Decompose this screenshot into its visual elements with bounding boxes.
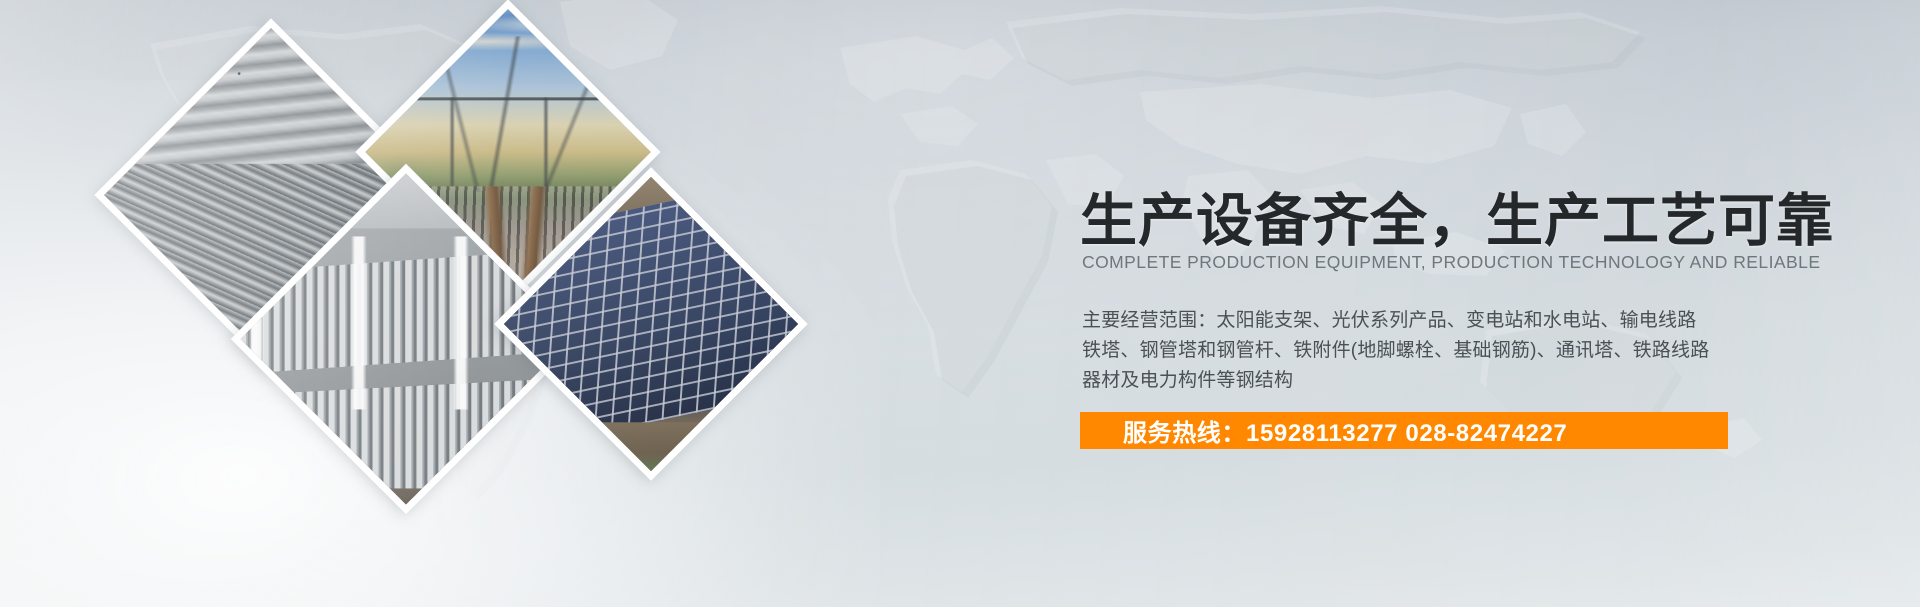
- description-line-3: 器材及电力构件等钢结构: [1082, 366, 1802, 396]
- promotional-banner: 生产设备齐全，生产工艺可靠 COMPLETE PRODUCTION EQUIPM…: [0, 0, 1920, 607]
- description-line-1: 主要经营范围：太阳能支架、光伏系列产品、变电站和水电站、输电线路: [1082, 306, 1802, 336]
- tube-ground: [231, 488, 582, 514]
- service-hotline-text: 服务热线：15928113277 028-82474227: [1123, 413, 1567, 448]
- business-scope-description: 主要经营范围：太阳能支架、光伏系列产品、变电站和水电站、输电线路 铁塔、钢管塔和…: [1082, 306, 1802, 396]
- banner-copy-block: 生产设备齐全，生产工艺可靠 COMPLETE PRODUCTION EQUIPM…: [1080, 0, 1900, 607]
- description-line-2: 铁塔、钢管塔和钢管杆、铁附件(地脚螺栓、基础钢筋)、通讯塔、铁路线路: [1082, 336, 1802, 366]
- service-hotline-bar[interactable]: 服务热线：15928113277 028-82474227: [1080, 412, 1728, 449]
- solar-foreground-ground: [494, 422, 808, 481]
- page-title: 生产设备齐全，生产工艺可靠: [1080, 175, 1834, 257]
- english-subtitle: COMPLETE PRODUCTION EQUIPMENT, PRODUCTIO…: [1082, 252, 1820, 273]
